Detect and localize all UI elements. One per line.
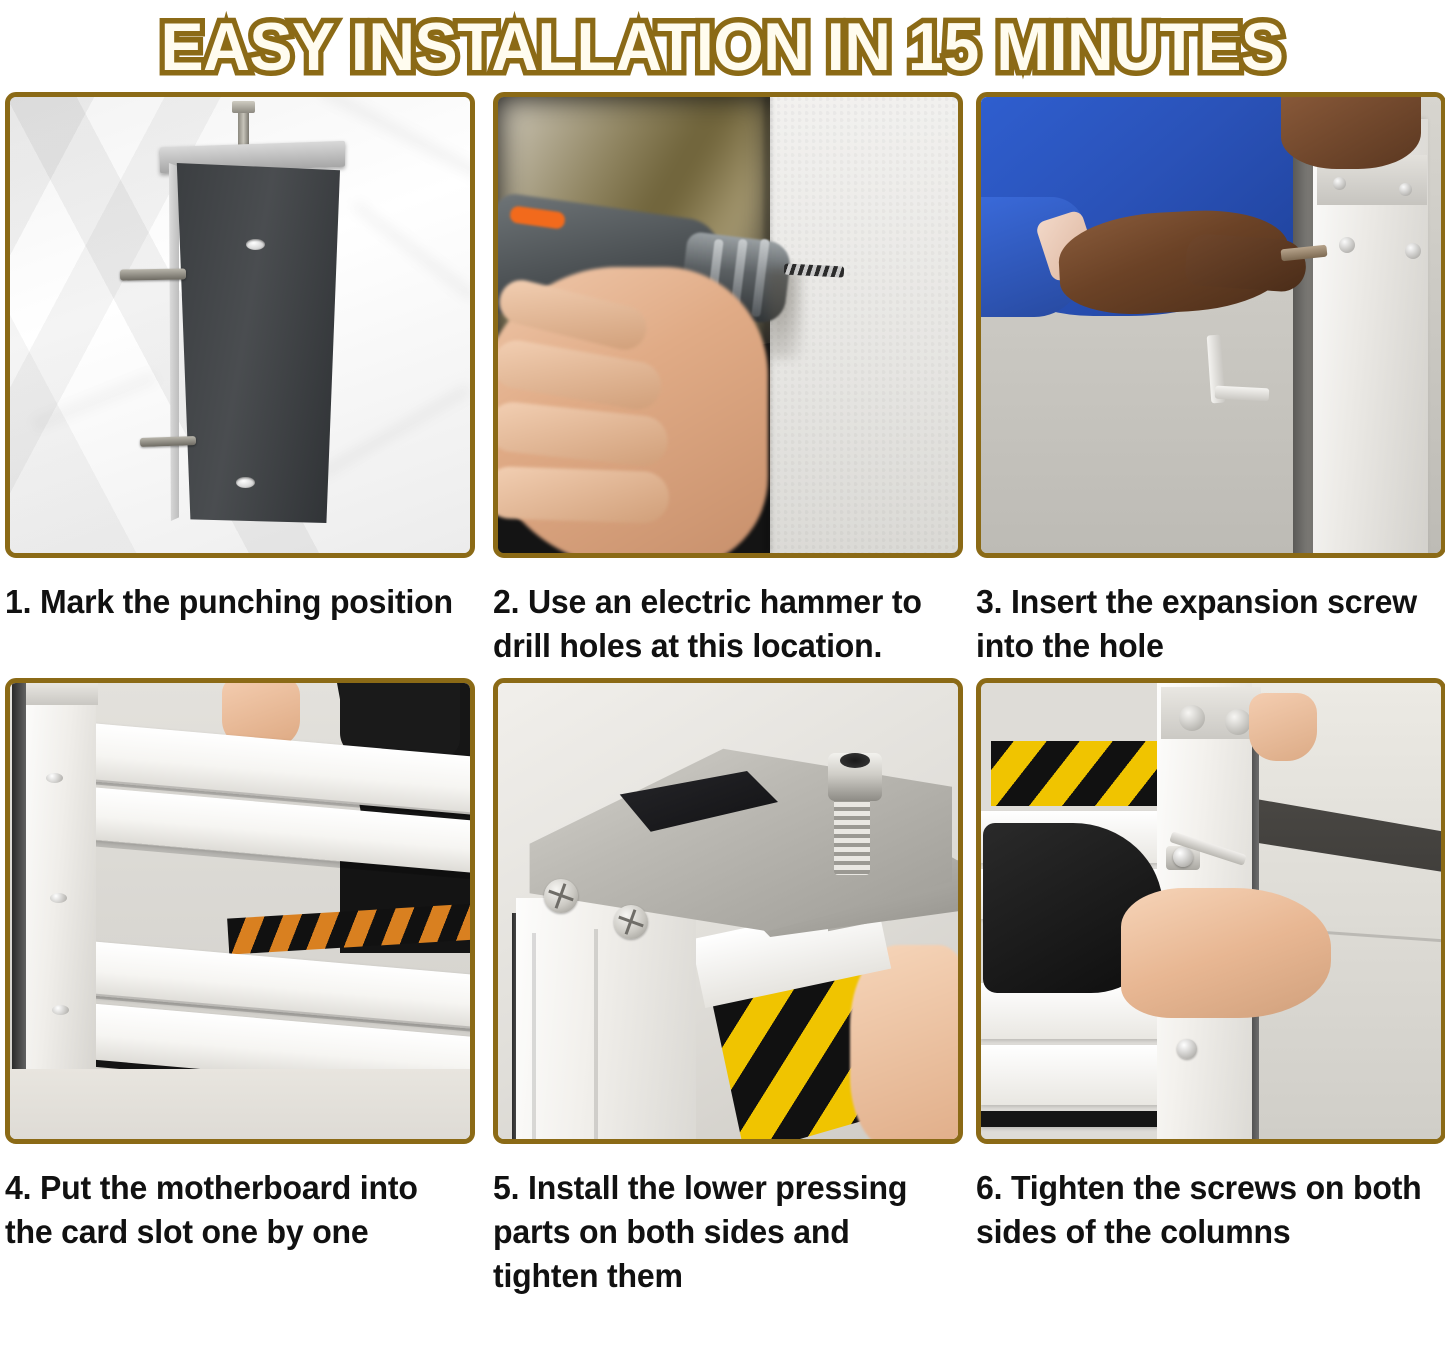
fingers bbox=[1184, 233, 1307, 293]
step-2-photo-frame bbox=[493, 92, 963, 558]
hand bbox=[1121, 888, 1331, 1018]
screw-head bbox=[46, 773, 63, 783]
screw-head bbox=[1399, 183, 1412, 196]
expansion-stud bbox=[120, 268, 186, 280]
steps-row-2: 4. Put the motherboard into the card slo… bbox=[0, 678, 1445, 1308]
finger bbox=[850, 945, 958, 1139]
step-4-photo bbox=[10, 683, 470, 1139]
screw-head bbox=[1339, 237, 1355, 253]
step-3-photo-frame bbox=[976, 92, 1445, 558]
page-title-bar: EASY INSTALLATION IN 15 MINUTES bbox=[0, 0, 1445, 92]
white-column bbox=[516, 898, 696, 1139]
screw-head bbox=[1173, 847, 1193, 867]
step-4-caption: 4. Put the motherboard into the card slo… bbox=[5, 1144, 466, 1264]
floor bbox=[10, 1069, 470, 1139]
phillips-screw bbox=[1179, 705, 1205, 731]
phillips-screw bbox=[544, 879, 578, 913]
step-card-6: 6. Tighten the screws on both sides of t… bbox=[966, 678, 1445, 1308]
column-cap bbox=[26, 683, 98, 705]
step-1-photo-frame bbox=[5, 92, 475, 558]
step-5-photo-frame bbox=[493, 678, 963, 1144]
allen-key-short-arm bbox=[1215, 386, 1270, 402]
board-groove bbox=[981, 1111, 1163, 1127]
drill-dust bbox=[768, 269, 802, 359]
step-card-5: 5. Install the lower pressing parts on b… bbox=[488, 678, 966, 1308]
column-groove bbox=[594, 929, 598, 1139]
finger bbox=[498, 466, 670, 524]
top-bolt-head bbox=[232, 101, 255, 113]
step-2-photo bbox=[498, 97, 958, 553]
step-5-caption: 5. Install the lower pressing parts on b… bbox=[493, 1144, 944, 1308]
step-card-1: 1. Mark the punching position bbox=[5, 92, 488, 678]
column-groove bbox=[532, 933, 536, 1139]
phillips-screw bbox=[614, 905, 648, 939]
screw-head bbox=[1177, 1039, 1197, 1059]
white-column bbox=[26, 683, 96, 1083]
step-2-caption: 2. Use an electric hammer to drill holes… bbox=[493, 558, 944, 678]
mounting-hole bbox=[236, 477, 255, 488]
screw-head bbox=[1333, 177, 1346, 190]
yellow-black-hazard-tape bbox=[991, 741, 1161, 806]
upper-hand bbox=[1249, 693, 1317, 761]
steps-row-1: 1. Mark the punching position bbox=[0, 92, 1445, 678]
step-6-photo bbox=[981, 683, 1441, 1139]
mounting-hole bbox=[246, 239, 265, 250]
screw-head bbox=[1405, 243, 1421, 259]
step-3-photo bbox=[981, 97, 1441, 553]
hex-bolt-socket bbox=[840, 753, 870, 768]
screw-head bbox=[52, 1005, 69, 1015]
step-4-photo-frame bbox=[5, 678, 475, 1144]
step-5-photo bbox=[498, 683, 958, 1139]
step-card-2: 2. Use an electric hammer to drill holes… bbox=[488, 92, 966, 678]
upper-hand bbox=[1281, 97, 1421, 169]
step-1-photo bbox=[10, 97, 470, 553]
screw-head bbox=[50, 893, 67, 903]
page-title: EASY INSTALLATION IN 15 MINUTES bbox=[161, 11, 1284, 83]
installation-guide-page: EASY INSTALLATION IN 15 MINUTES bbox=[0, 0, 1445, 1352]
step-1-caption: 1. Mark the punching position bbox=[5, 558, 466, 634]
step-card-4: 4. Put the motherboard into the card slo… bbox=[5, 678, 488, 1308]
barrier-board bbox=[981, 1045, 1163, 1105]
hex-bolt-shaft bbox=[834, 793, 870, 875]
column-base-body bbox=[170, 163, 340, 523]
step-3-caption: 3. Insert the expansion screw into the h… bbox=[976, 558, 1432, 678]
step-card-3: 3. Insert the expansion screw into the h… bbox=[966, 92, 1445, 678]
phillips-screw bbox=[1225, 709, 1251, 735]
step-6-caption: 6. Tighten the screws on both sides of t… bbox=[976, 1144, 1432, 1264]
step-6-photo-frame bbox=[976, 678, 1445, 1144]
